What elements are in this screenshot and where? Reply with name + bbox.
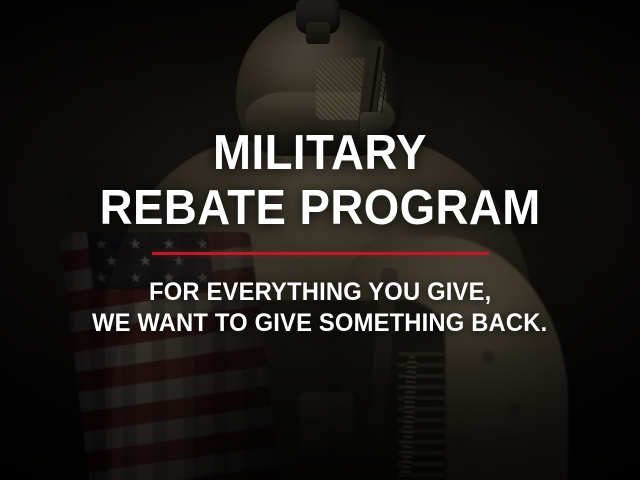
headline-line-2: REBATE PROGRAM xyxy=(99,181,540,236)
headline-line-1: MILITARY xyxy=(213,126,427,181)
military-rebate-banner: ★ ★ ★ ★ ★ ★ ★ ★ ★ ★ ★ ★ ★ ★ MILITARY REB… xyxy=(0,0,640,480)
banner-content: MILITARY REBATE PROGRAM FOR EVERYTHING Y… xyxy=(0,0,640,480)
red-divider-rule xyxy=(152,252,489,255)
subtitle-line-1: FOR EVERYTHING YOU GIVE, xyxy=(149,277,491,308)
subtitle-line-2: WE WANT TO GIVE SOMETHING BACK. xyxy=(92,308,547,339)
